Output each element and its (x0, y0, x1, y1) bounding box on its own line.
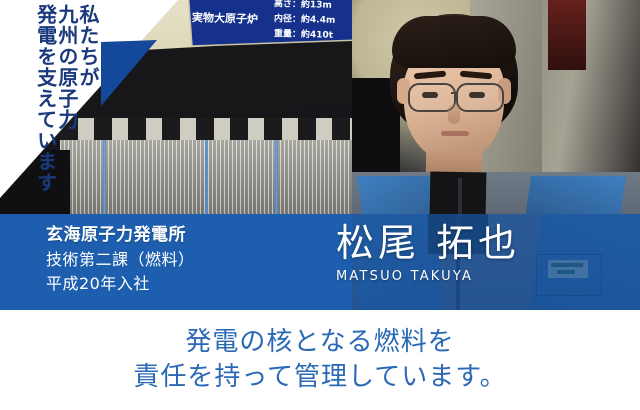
tagline-line-1: 発電の核となる燃料を (185, 325, 454, 360)
exhibit-sign-diameter: 内径：約4.4m (274, 11, 336, 26)
workplace-details: 玄海原子力発電所 技術第二課（燃料） 平成20年入社 (46, 223, 195, 296)
vertical-headline-line-3: 発電を支えています (34, 4, 55, 209)
exhibit-sign-height: 高さ：約13m (274, 0, 332, 11)
vertical-headline: 私たちが 九州の原子力 発電を支えています (0, 4, 100, 209)
organization-name: 玄海原子力発電所 (46, 223, 195, 248)
portrait-mouth (441, 131, 469, 136)
exhibit-sign-title: 実物大原子炉 (192, 9, 258, 27)
portrait-uniform-shoulder-right (525, 176, 626, 215)
portrait-uniform-shoulder-left (357, 176, 441, 215)
employee-name-japanese: 松尾 拓也 (336, 220, 520, 268)
employee-name-block: 松尾 拓也 MATSUO TAKUYA (336, 220, 520, 284)
portrait-eyeglass-bridge (451, 92, 458, 94)
tagline-caption: 発電の核となる燃料を 責任を持って管理しています。 (0, 310, 640, 410)
exhibit-sign-weight: 重量：約410t (274, 26, 333, 41)
fuel-rod-highlight (103, 140, 106, 215)
portrait-eyeglass-lens-right (456, 83, 504, 112)
join-year: 平成20年入社 (46, 272, 195, 296)
portrait-nose (448, 104, 460, 124)
fuel-rod-highlight (205, 140, 208, 215)
employee-name-romaji: MATSUO TAKUYA (336, 269, 520, 284)
fuel-rod-highlight (275, 140, 278, 215)
employee-portrait-photo (352, 0, 640, 215)
vertical-headline-line-2: 九州の原子力 (56, 4, 77, 209)
portrait-uniform-placket (458, 178, 462, 215)
vertical-headline-line-1: 私たちが (77, 4, 98, 209)
tagline-line-2: 責任を持って管理しています。 (133, 360, 506, 395)
department-name: 技術第二課（燃料） (46, 248, 195, 272)
portrait-bg-red-panel (548, 0, 586, 70)
employee-info-bar: 玄海原子力発電所 技術第二課（燃料） 平成20年入社 松尾 拓也 MATSUO … (0, 214, 640, 310)
portrait-hair-fringe (392, 16, 516, 68)
employee-profile-banner: 実物大原子炉 高さ：約13m 内径：約4.4m 重量：約410t (0, 0, 640, 410)
